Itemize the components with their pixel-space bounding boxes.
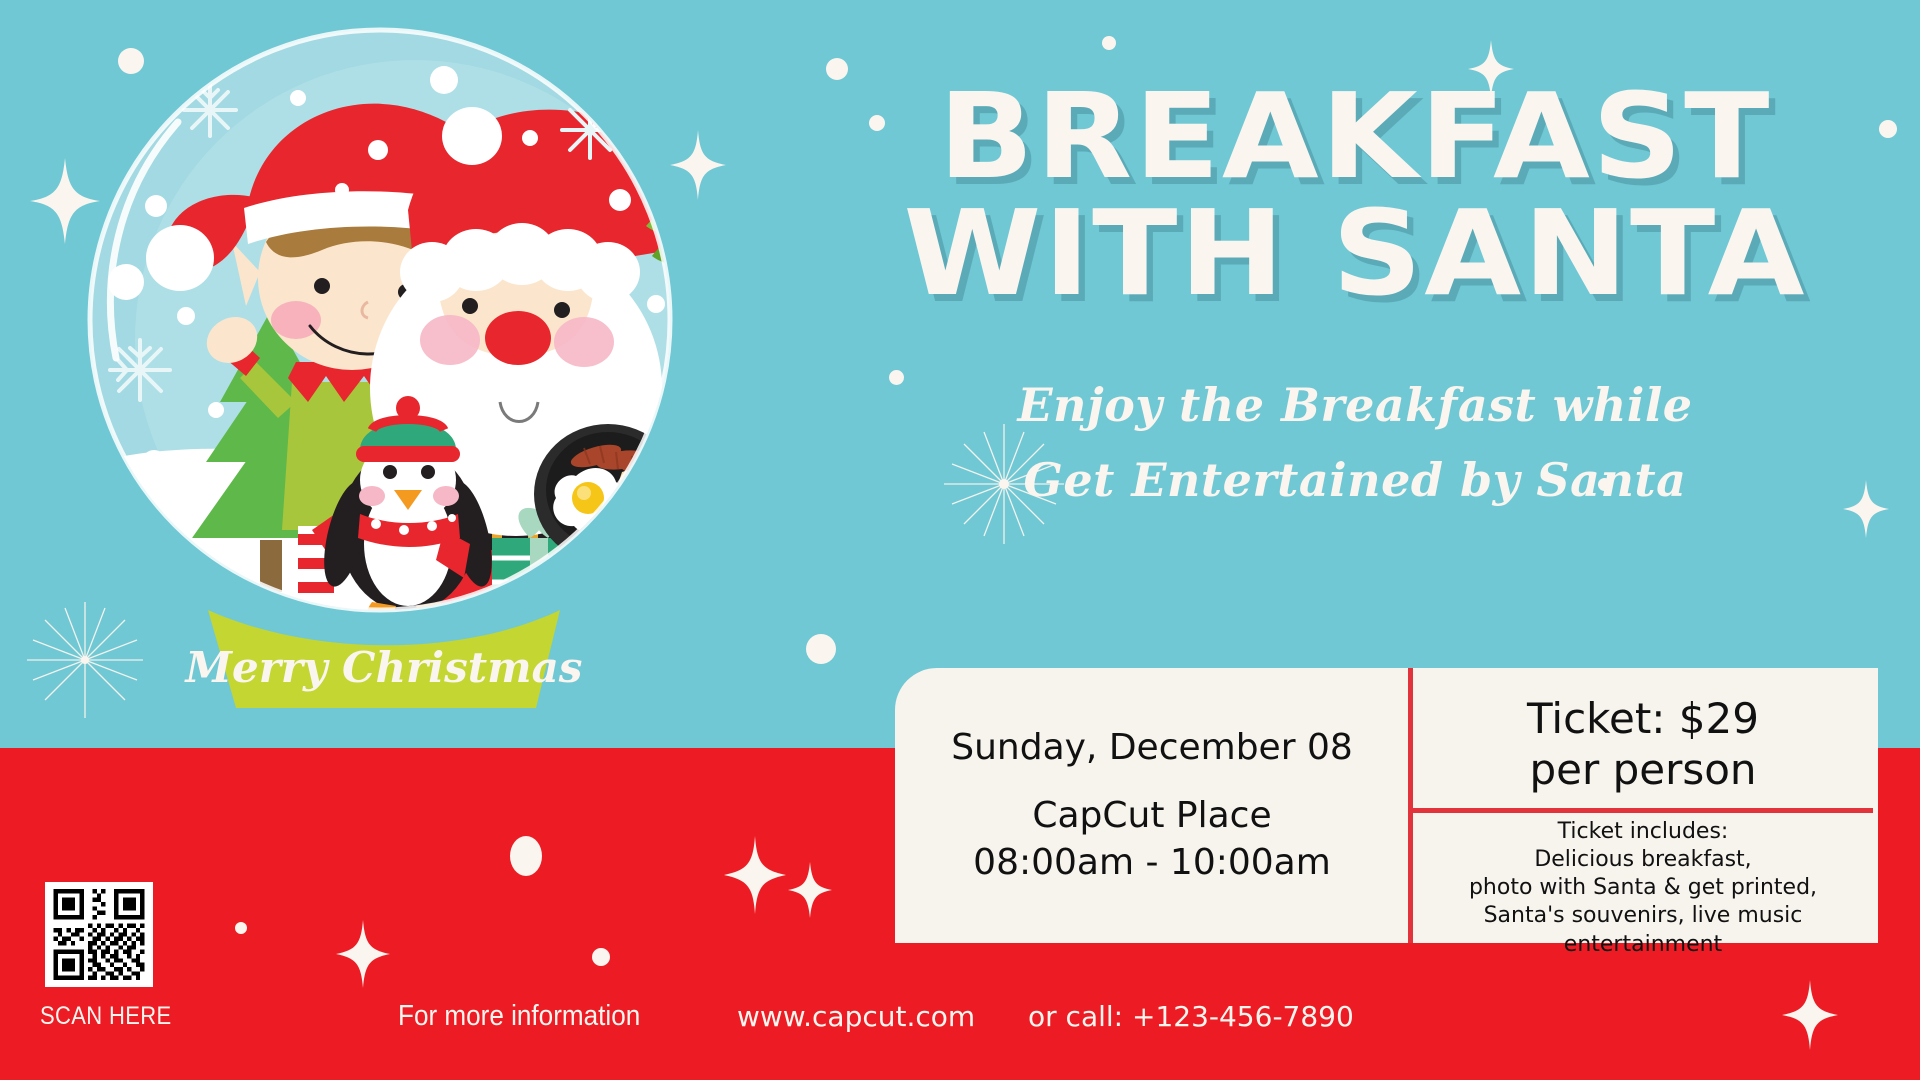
decor-dot <box>1102 36 1116 50</box>
merry-christmas-text: Merry Christmas <box>184 643 583 692</box>
ticket-includes-line: Delicious breakfast, <box>1413 846 1873 874</box>
ticket-price-block: Ticket: $29 per person <box>1413 680 1873 808</box>
page-title: BREAKFAST WITH SANTA <box>814 78 1895 312</box>
sparkle-icon <box>724 836 786 914</box>
headline-line-1: BREAKFAST <box>814 78 1895 195</box>
event-info-card: Sunday, December 08 CapCut Place 08:00am… <box>895 668 1878 810</box>
ticket-price: Ticket: $29 <box>1527 693 1759 744</box>
event-venue: CapCut Place <box>973 793 1331 840</box>
ticket-includes-line: Santa's souvenirs, live music <box>1413 902 1873 930</box>
card-horizontal-divider <box>1413 808 1873 813</box>
snow-globe-illustration: Merry Christmas <box>60 10 740 730</box>
more-information-label: For more information <box>398 1000 640 1033</box>
event-date: Sunday, December 08 <box>951 725 1353 771</box>
headline-line-2: WITH SANTA <box>814 195 1895 312</box>
subtitle-line-1: Enjoy the Breakfast while <box>845 368 1865 443</box>
decor-dot <box>592 948 610 966</box>
event-time: 08:00am - 10:00am <box>973 840 1331 887</box>
sparkle-icon <box>788 862 832 918</box>
website-link[interactable]: www.capcut.com <box>737 1000 975 1033</box>
event-datetime-block: Sunday, December 08 CapCut Place 08:00am… <box>895 668 1409 943</box>
subtitle-line-2: Get Entertained by Santa <box>845 443 1865 518</box>
sparkle-icon <box>1782 980 1838 1050</box>
decor-dot <box>510 836 542 876</box>
event-venue-time: CapCut Place 08:00am - 10:00am <box>973 793 1331 887</box>
scan-here-label: SCAN HERE <box>40 1002 172 1031</box>
subtitle: Enjoy the Breakfast while Get Entertaine… <box>845 368 1865 517</box>
ticket-includes-line: photo with Santa & get printed, <box>1413 874 1873 902</box>
ticket-includes-line: Ticket includes: <box>1413 818 1873 846</box>
decor-dot <box>806 634 836 664</box>
sparkle-icon <box>336 920 390 988</box>
ticket-includes-block: Ticket includes: Delicious breakfast, ph… <box>1413 818 1873 959</box>
ticket-price-unit: per person <box>1529 744 1756 795</box>
ticket-includes-line: entertainment <box>1413 931 1873 959</box>
poster-canvas: Merry Christmas BREAKFAST WITH SANTA Enj… <box>0 0 1920 1080</box>
qr-code-icon[interactable] <box>45 882 153 987</box>
phone-number[interactable]: or call: +123-456-7890 <box>1028 1000 1354 1033</box>
decor-dot <box>235 922 247 934</box>
decor-dot <box>826 58 848 80</box>
